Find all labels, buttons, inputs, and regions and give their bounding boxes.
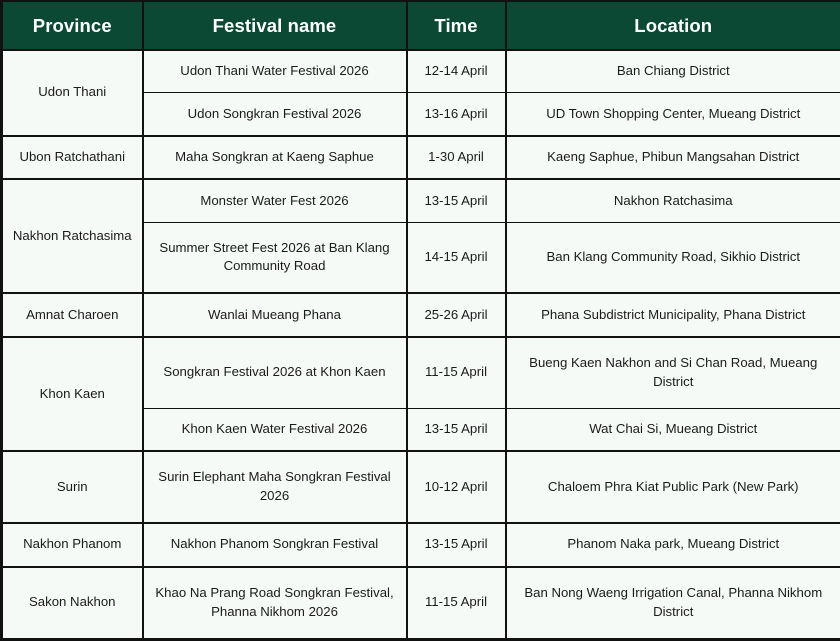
table-row: SurinSurin Elephant Maha Songkran Festiv… bbox=[2, 451, 840, 523]
table-row: Udon ThaniUdon Thani Water Festival 2026… bbox=[2, 50, 840, 93]
table-row: Amnat CharoenWanlai Mueang Phana25-26 Ap… bbox=[2, 293, 840, 337]
cell-location: Chaloem Phra Kiat Public Park (New Park) bbox=[506, 451, 840, 523]
cell-time: 13-15 April bbox=[407, 523, 506, 567]
cell-province: Khon Kaen bbox=[2, 337, 143, 451]
cell-time: 1-30 April bbox=[407, 136, 506, 180]
cell-province: Surin bbox=[2, 451, 143, 523]
cell-time: 14-15 April bbox=[407, 222, 506, 293]
cell-location: UD Town Shopping Center, Mueang District bbox=[506, 93, 840, 136]
table-row: Sakon NakhonKhao Na Prang Road Songkran … bbox=[2, 567, 840, 640]
cell-location: Bueng Kaen Nakhon and Si Chan Road, Muea… bbox=[506, 337, 840, 408]
cell-time: 12-14 April bbox=[407, 50, 506, 93]
cell-province: Amnat Charoen bbox=[2, 293, 143, 337]
cell-province: Nakhon Ratchasima bbox=[2, 179, 143, 293]
cell-time: 10-12 April bbox=[407, 451, 506, 523]
cell-festival-name: Khon Kaen Water Festival 2026 bbox=[143, 408, 407, 451]
cell-time: 11-15 April bbox=[407, 337, 506, 408]
cell-time: 13-15 April bbox=[407, 408, 506, 451]
cell-festival-name: Songkran Festival 2026 at Khon Kaen bbox=[143, 337, 407, 408]
cell-province: Udon Thani bbox=[2, 50, 143, 136]
cell-location: Nakhon Ratchasima bbox=[506, 179, 840, 222]
cell-province: Ubon Ratchathani bbox=[2, 136, 143, 180]
cell-festival-name: Surin Elephant Maha Songkran Festival 20… bbox=[143, 451, 407, 523]
cell-time: 13-16 April bbox=[407, 93, 506, 136]
cell-location: Phana Subdistrict Municipality, Phana Di… bbox=[506, 293, 840, 337]
cell-location: Kaeng Saphue, Phibun Mangsahan District bbox=[506, 136, 840, 180]
cell-festival-name: Maha Songkran at Kaeng Saphue bbox=[143, 136, 407, 180]
cell-location: Ban Klang Community Road, Sikhio Distric… bbox=[506, 222, 840, 293]
cell-province: Nakhon Phanom bbox=[2, 523, 143, 567]
cell-festival-name: Nakhon Phanom Songkran Festival bbox=[143, 523, 407, 567]
column-header-festival-name: Festival name bbox=[143, 1, 407, 50]
cell-festival-name: Monster Water Fest 2026 bbox=[143, 179, 407, 222]
cell-location: Wat Chai Si, Mueang District bbox=[506, 408, 840, 451]
column-header-time: Time bbox=[407, 1, 506, 50]
table-row: Khon KaenSongkran Festival 2026 at Khon … bbox=[2, 337, 840, 408]
table-row: Ubon RatchathaniMaha Songkran at Kaeng S… bbox=[2, 136, 840, 180]
cell-festival-name: Udon Thani Water Festival 2026 bbox=[143, 50, 407, 93]
cell-location: Ban Chiang District bbox=[506, 50, 840, 93]
table-body: Udon ThaniUdon Thani Water Festival 2026… bbox=[2, 50, 840, 640]
table-row: Nakhon PhanomNakhon Phanom Songkran Fest… bbox=[2, 523, 840, 567]
header-row: Province Festival name Time Location bbox=[2, 1, 840, 50]
festival-schedule-table: Province Festival name Time Location Udo… bbox=[0, 0, 840, 641]
cell-province: Sakon Nakhon bbox=[2, 567, 143, 640]
cell-festival-name: Summer Street Fest 2026 at Ban Klang Com… bbox=[143, 222, 407, 293]
cell-festival-name: Khao Na Prang Road Songkran Festival, Ph… bbox=[143, 567, 407, 640]
table-row: Nakhon RatchasimaMonster Water Fest 2026… bbox=[2, 179, 840, 222]
cell-location: Phanom Naka park, Mueang District bbox=[506, 523, 840, 567]
cell-time: 13-15 April bbox=[407, 179, 506, 222]
table-header: Province Festival name Time Location bbox=[2, 1, 840, 50]
cell-location: Ban Nong Waeng Irrigation Canal, Phanna … bbox=[506, 567, 840, 640]
column-header-province: Province bbox=[2, 1, 143, 50]
cell-festival-name: Udon Songkran Festival 2026 bbox=[143, 93, 407, 136]
cell-festival-name: Wanlai Mueang Phana bbox=[143, 293, 407, 337]
cell-time: 11-15 April bbox=[407, 567, 506, 640]
cell-time: 25-26 April bbox=[407, 293, 506, 337]
column-header-location: Location bbox=[506, 1, 840, 50]
